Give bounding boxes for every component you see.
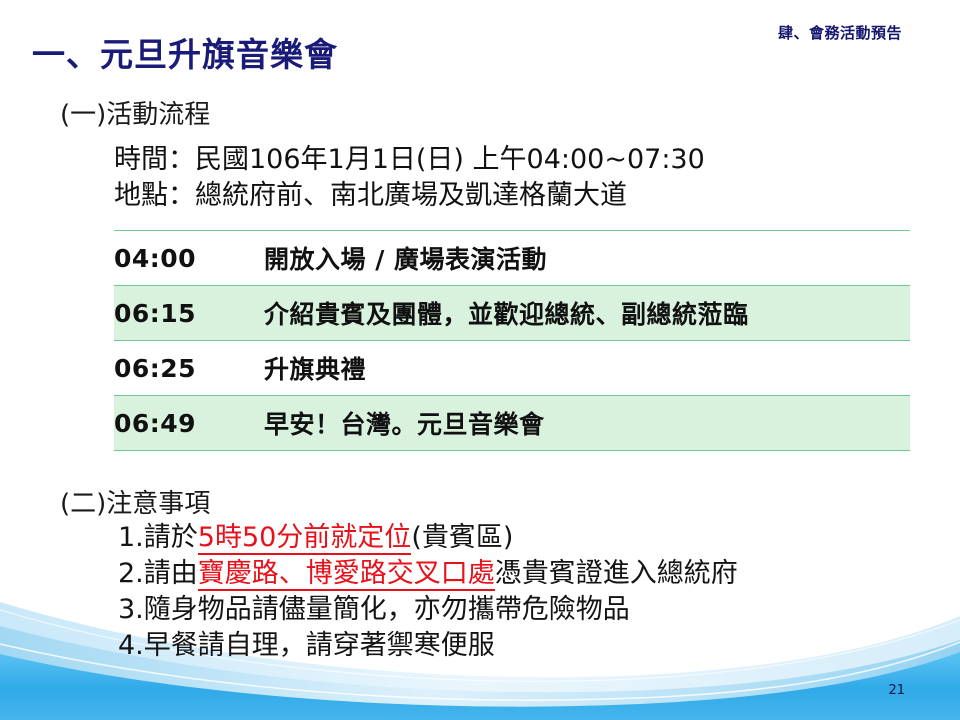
- note-item: 4.早餐請自理，請穿著禦寒便服: [118, 628, 738, 664]
- event-time-line: 時間：民國106年1月1日(日) 上午04:00~07:30: [114, 142, 705, 178]
- note-highlight: 寶慶路、博愛路交叉口處: [198, 558, 495, 591]
- event-place-line: 地點：總統府前、南北廣場及凱達格蘭大道: [114, 178, 705, 214]
- schedule-event-cell: 開放入場 / 廣場表演活動: [264, 231, 910, 286]
- note-text-lead: 早餐請自理，請穿著禦寒便服: [144, 630, 495, 661]
- subheading-activity-flow: (一)活動流程: [60, 94, 210, 131]
- slide-canvas: 肆、會務活動預告 一、元旦升旗音樂會 (一)活動流程 時間：民國106年1月1日…: [0, 0, 960, 720]
- note-item: 3.隨身物品請儘量簡化，亦勿攜帶危險物品: [118, 592, 738, 628]
- schedule-event-cell: 介紹貴賓及團體，並歡迎總統、副總統蒞臨: [264, 286, 910, 341]
- note-text-lead: 隨身物品請儘量簡化，亦勿攜帶危險物品: [144, 594, 630, 625]
- event-info-block: 時間：民國106年1月1日(日) 上午04:00~07:30 地點：總統府前、南…: [114, 142, 705, 213]
- schedule-table-body: 04:00開放入場 / 廣場表演活動06:15介紹貴賓及團體，並歡迎總統、副總統…: [114, 231, 910, 451]
- page-title: 一、元旦升旗音樂會: [32, 28, 338, 76]
- schedule-event-cell: 升旗典禮: [264, 341, 910, 396]
- note-item: 2.請由寶慶路、博愛路交叉口處憑貴賓證進入總統府: [118, 556, 738, 592]
- schedule-time-cell: 06:25: [114, 341, 264, 396]
- subheading-notices: (二)注意事項: [60, 483, 210, 520]
- note-number: 1.: [118, 522, 144, 553]
- note-number: 3.: [118, 594, 144, 625]
- section-label: 肆、會務活動預告: [778, 22, 902, 43]
- note-text-tail: (貴賓區): [411, 522, 513, 553]
- note-number: 2.: [118, 558, 144, 589]
- schedule-row: 06:15介紹貴賓及團體，並歡迎總統、副總統蒞臨: [114, 286, 910, 341]
- page-number: 21: [888, 683, 905, 698]
- note-number: 4.: [118, 630, 144, 661]
- notes-list: 1.請於5時50分前就定位(貴賓區)2.請由寶慶路、博愛路交叉口處憑貴賓證進入總…: [118, 520, 738, 664]
- note-text-lead: 請由: [144, 558, 198, 589]
- schedule-table: 04:00開放入場 / 廣場表演活動06:15介紹貴賓及團體，並歡迎總統、副總統…: [114, 230, 910, 451]
- schedule-time-cell: 06:15: [114, 286, 264, 341]
- schedule-row: 04:00開放入場 / 廣場表演活動: [114, 231, 910, 286]
- schedule-row: 06:25升旗典禮: [114, 341, 910, 396]
- schedule-row: 06:49早安！台灣。元旦音樂會: [114, 396, 910, 451]
- note-item: 1.請於5時50分前就定位(貴賓區): [118, 520, 738, 556]
- schedule-event-cell: 早安！台灣。元旦音樂會: [264, 396, 910, 451]
- schedule-time-cell: 06:49: [114, 396, 264, 451]
- note-text-tail: 憑貴賓證進入總統府: [495, 558, 738, 589]
- note-text-lead: 請於: [144, 522, 198, 553]
- schedule-time-cell: 04:00: [114, 231, 264, 286]
- note-highlight: 5時50分前就定位: [198, 522, 412, 555]
